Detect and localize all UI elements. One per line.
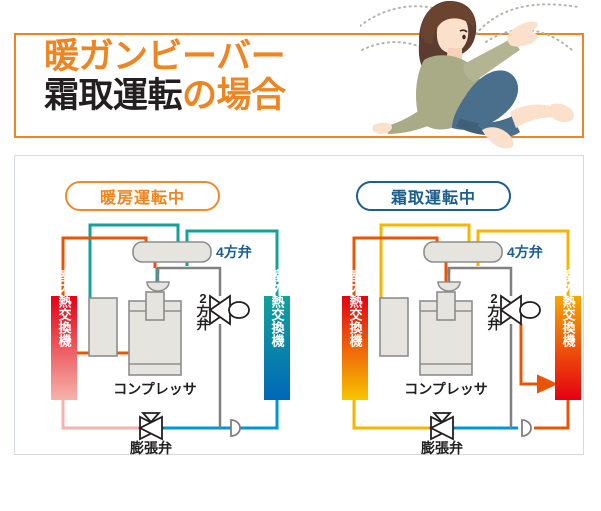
badge-heating-mode: 暖房運転中 [65,181,220,211]
two-way-valve-label-char3: 弁 [196,317,209,332]
expansion-valve-label: 膨張弁 [130,440,172,456]
pipe-liquid-warm [63,399,140,428]
two-way-valve-symbol [501,296,540,324]
indoor-heat-exchanger-label: 室内熱交換機 [57,268,72,348]
accumulator-tank [380,298,408,356]
diagram-defrost: 霜取運転中 [306,156,591,456]
accumulator-tank [89,298,117,356]
pipe-liquid-hot-return [534,399,568,428]
check-valve-symbol [231,420,240,436]
four-way-valve-body [133,242,211,262]
four-way-valve-body [424,242,502,262]
four-way-valve-label: 4方弁 [216,244,252,260]
expansion-valve-symbol [140,413,162,439]
expansion-valve-symbol [431,413,453,439]
two-way-valve-label-char3: 弁 [487,317,500,332]
title-line-1: 暖ガンビーバー [44,38,374,75]
two-way-valve-symbol [210,296,249,324]
pipe-liquid-warm [354,399,431,428]
title-line-2-main: 霜取運転 [44,76,182,115]
title-line-2: 霜取運転の場合 [44,77,374,114]
diagram-panel: 暖房運転中 [14,155,584,455]
woman-sitting-illustration [360,0,601,150]
compressor-motor-stub [437,292,455,320]
outdoor-heat-exchanger-label: 室外熱交換機 [561,268,577,348]
page-title: 暖ガンビーバー 霜取運転の場合 [44,38,374,114]
accumulator-bulb [438,282,460,291]
badge-defrost-mode: 霜取運転中 [356,181,511,211]
pipe-defrost-branch-to-outdoor [521,324,552,384]
foot-back [550,104,574,122]
diagram-heating: 暖房運転中 [15,156,300,456]
eye [462,35,465,40]
four-way-valve-label: 4方弁 [507,244,543,260]
check-valve-symbol [522,420,531,436]
compressor-motor-stub [146,292,164,320]
indoor-heat-exchanger-label: 室内熱交換機 [348,268,363,348]
hand-raised [508,21,538,46]
compressor-label: コンプレッサ [404,381,488,397]
outdoor-heat-exchanger-label: 室外熱交換機 [270,268,286,348]
accumulator-bulb [147,282,169,291]
compressor-label: コンプレッサ [113,381,197,397]
title-line-2-accent: の場合 [182,76,286,115]
expansion-valve-label: 膨張弁 [421,440,463,456]
